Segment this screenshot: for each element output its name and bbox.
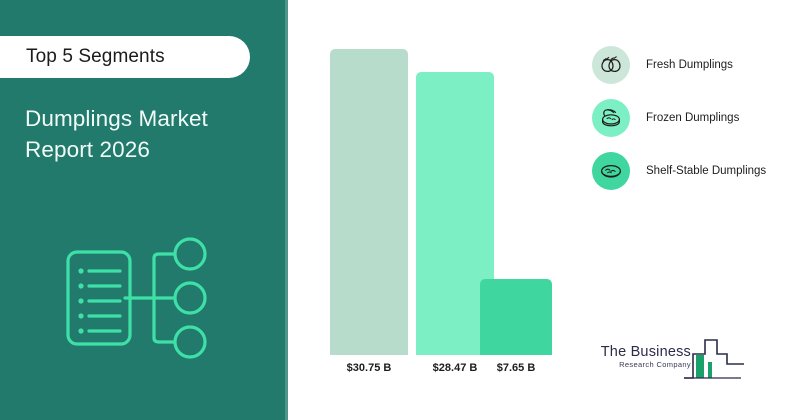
legend-item-fresh-dumplings[interactable]: Fresh Dumplings [592,38,792,91]
dumplings-pair-icon [592,46,630,84]
steamer-basket-icon [592,99,630,137]
company-logo: The Business Research Company [583,338,743,386]
legend-item-shelf-stable-dumplings[interactable]: Shelf-Stable Dumplings [592,144,792,197]
legend-label-shelf-stable-dumplings: Shelf-Stable Dumplings [646,165,766,177]
infographic-canvas: Top 5 Segments Dumplings Market Report 2… [0,0,800,420]
legend-label-fresh-dumplings: Fresh Dumplings [646,59,733,71]
bar-shelf-stable-dumplings[interactable] [480,279,552,355]
bar-value-label-1: $30.75 B [324,362,414,374]
bar-fresh-dumplings[interactable] [330,49,408,355]
bar-chart-logo-icon [683,338,745,387]
panel-divider [285,0,288,420]
company-logo-line2: Research Company [583,360,691,370]
company-logo-text: The Business Research Company [583,344,691,370]
bar-value-label-3: $7.65 B [472,362,560,374]
page-title: Dumplings Market Report 2026 [25,103,270,165]
segments-badge-label: Top 5 Segments [26,46,165,68]
chart-legend: Fresh Dumplings Frozen Dumplings [592,38,792,197]
document-tree-icon [62,228,222,368]
bar-chart-plot-area: $30.75 B $28.47 B $7.65 B [300,0,590,420]
segments-badge: Top 5 Segments [0,36,250,78]
company-logo-line1: The Business [583,344,691,360]
bar-chart: $30.75 B $28.47 B $7.65 B [300,0,590,420]
legend-item-frozen-dumplings[interactable]: Frozen Dumplings [592,91,792,144]
dumpling-bowl-icon [592,152,630,190]
legend-label-frozen-dumplings: Frozen Dumplings [646,112,739,124]
